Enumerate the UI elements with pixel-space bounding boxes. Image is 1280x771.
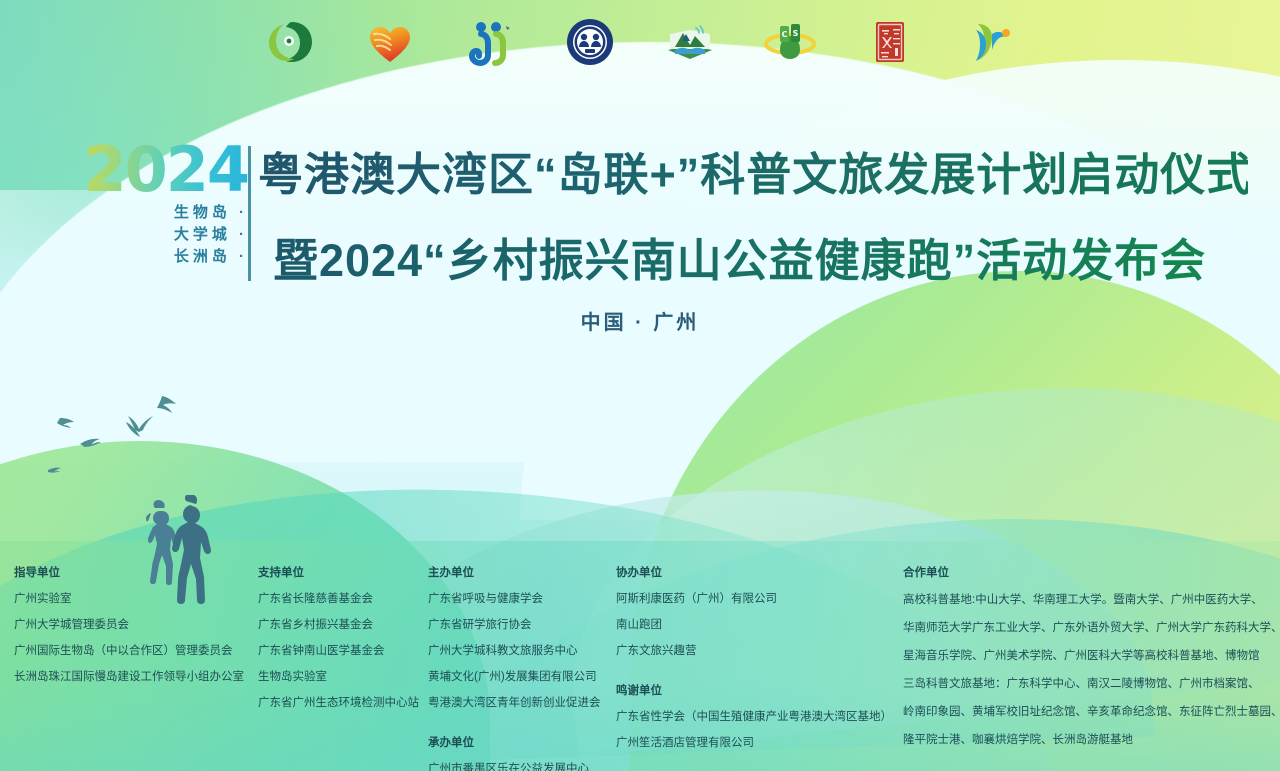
- column-coorganizer: 协办单位 阿斯利康医药（广州）有限公司 南山跑团 广东文旅兴趣营 鸣谢单位 广东…: [616, 560, 892, 756]
- list-item: 黄埔文化(广州)发展集团有限公司: [428, 664, 601, 690]
- charity-heart-logo: [362, 14, 418, 70]
- list-item: 广东省长隆慈善基金会: [258, 586, 419, 612]
- list-item: 广东省钟南山医学基金会: [258, 638, 419, 664]
- column-heading-secondary: 承办单位: [428, 730, 601, 756]
- list-item: 高校科普基地:中山大学、华南理工大学。暨南大学、广州中医药大学、: [903, 586, 1280, 614]
- year-badge: 2024 生物岛 · 大学城 · 长洲岛 ·: [78, 142, 248, 268]
- poster-title-line-2: 暨2024“乡村振兴南山公益健康跑”活动发布会: [273, 232, 1263, 290]
- list-item: 广州笙活酒店管理有限公司: [616, 730, 892, 756]
- list-item: 广州实验室: [14, 586, 244, 612]
- list-item: 粤港澳大湾区青年创新创业促进会: [428, 690, 601, 716]
- list-item: 南山跑团: [616, 612, 892, 638]
- sponsor-columns: 指导单位 广州实验室 广州大学城管理委员会 广州国际生物岛（中以合作区）管理委员…: [0, 560, 1280, 771]
- column-heading: 支持单位: [258, 560, 419, 586]
- year-number: 2024: [78, 142, 248, 198]
- list-item: 三岛科普文旅基地：广东科学中心、南汉二陵博物馆、广州市档案馆、: [903, 670, 1280, 698]
- list-item: 隆平院士港、咖襄烘焙学院、长洲岛游艇基地: [903, 726, 1280, 754]
- column-heading: 协办单位: [616, 560, 892, 586]
- column-spacer: [616, 664, 892, 678]
- poster-title-line-1: 粤港澳大湾区“岛联+”科普文旅发展计划启动仪式: [258, 147, 1248, 203]
- guangzhou-laboratory-logo: [262, 14, 318, 70]
- list-item: 长洲岛珠江国际慢岛建设工作领导小组办公室: [14, 664, 244, 690]
- list-item: 广东省乡村振兴基金会: [258, 612, 419, 638]
- bird-person-logo: [962, 14, 1018, 70]
- poster-subtitle-location: 中国 · 广州: [0, 306, 1280, 335]
- list-item: 华南师范大学广东工业大学、广东外语外贸大学、广州大学广东药科大学、: [903, 614, 1280, 642]
- year-subline-3: 长洲岛 ·: [78, 246, 248, 268]
- column-partners: 合作单位 高校科普基地:中山大学、华南理工大学。暨南大学、广州中医药大学、 华南…: [903, 560, 1280, 754]
- list-item: 广东省呼吸与健康学会: [428, 586, 601, 612]
- svg-text:S: S: [793, 29, 799, 38]
- list-item: 广东省性学会（中国生殖健康产业粤港澳大湾区基地）: [616, 704, 892, 730]
- list-item: 岭南印象园、黄埔军校旧址纪念馆、辛亥革命纪念馆、东征阵亡烈士墓园、: [903, 698, 1280, 726]
- list-item: 广州国际生物岛（中以合作区）管理委员会: [14, 638, 244, 664]
- column-heading: 主办单位: [428, 560, 601, 586]
- list-item: 广东省研学旅行协会: [428, 612, 601, 638]
- column-heading-secondary: 鸣谢单位: [616, 678, 892, 704]
- list-item: 星海音乐学院、广州美术学院、广州医科大学等高校科普基地、博物馆: [903, 642, 1280, 670]
- list-item: 阿斯利康医药（广州）有限公司: [616, 586, 892, 612]
- list-item: 广州大学城管理委员会: [14, 612, 244, 638]
- title-divider: [248, 146, 251, 281]
- column-guidance: 指导单位 广州实验室 广州大学城管理委员会 广州国际生物岛（中以合作区）管理委员…: [14, 560, 244, 690]
- list-item: 广州大学城科教文旅服务中心: [428, 638, 601, 664]
- red-seal-logo: [862, 14, 918, 70]
- year-subline-2: 大学城 ·: [78, 224, 248, 246]
- column-support: 支持单位 广东省长隆慈善基金会 广东省乡村振兴基金会 广东省钟南山医学基金会 生…: [258, 560, 419, 716]
- list-item: 广东省广州生态环境检测中心站: [258, 690, 419, 716]
- column-heading: 指导单位: [14, 560, 244, 586]
- cs-globe-logo: C S: [762, 14, 818, 70]
- column-spacer: [428, 716, 601, 730]
- column-host: 主办单位 广东省呼吸与健康学会 广东省研学旅行协会 广州大学城科教文旅服务中心 …: [428, 560, 601, 771]
- year-sublines: 生物岛 · 大学城 · 长洲岛 ·: [78, 202, 248, 268]
- list-item: 广东文旅兴趣营: [616, 638, 892, 664]
- book-mountain-logo: [662, 14, 718, 70]
- event-poster: C S 2024: [0, 0, 1280, 771]
- bird-flock: [18, 386, 258, 476]
- list-item: 生物岛实验室: [258, 664, 419, 690]
- list-item: 广州市番禺区乐在公益发展中心: [428, 756, 601, 771]
- sponsor-logo-row: C S: [0, 14, 1280, 70]
- svg-text:C: C: [782, 30, 788, 39]
- jj-people-logo: [462, 14, 518, 70]
- university-seal-logo: [562, 14, 618, 70]
- column-heading: 合作单位: [903, 560, 1280, 586]
